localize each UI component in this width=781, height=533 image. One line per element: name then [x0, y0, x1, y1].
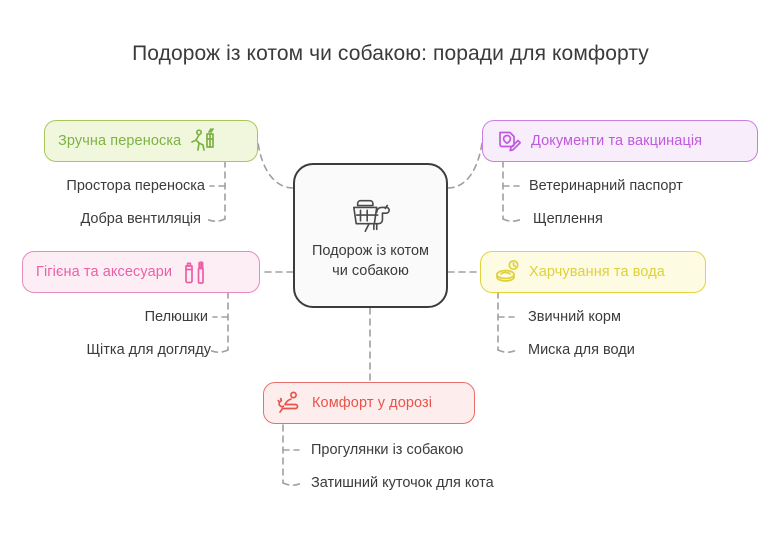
branch-label-food: Харчування та вода: [529, 264, 665, 280]
center-node[interactable]: Подорож із котом чи собакою: [293, 163, 448, 308]
sub-item-carrier-1: Простора переноска: [0, 177, 205, 195]
food-bowl-clock-icon: [494, 259, 520, 285]
twig-hygiene-2: [209, 350, 228, 352]
sub-item-comfort-1: Прогулянки із собакою: [311, 441, 463, 459]
pet-carrier-icon: [190, 128, 216, 154]
branch-badge-food[interactable]: Харчування та вода: [480, 251, 706, 293]
branch-badge-carrier[interactable]: Зручна переноска: [44, 120, 258, 162]
sub-item-documents-2: Щеплення: [533, 210, 603, 228]
branch-badge-hygiene[interactable]: Гігієна та аксесуари: [22, 251, 260, 293]
sub-item-food-2: Миска для води: [528, 341, 635, 359]
sub-item-hygiene-1: Пелюшки: [0, 308, 208, 326]
branch-label-carrier: Зручна переноска: [58, 133, 181, 149]
branch-badge-comfort[interactable]: Комфорт у дорозі: [263, 382, 475, 424]
toothpaste-brush-icon: [181, 259, 207, 285]
document-shield-pen-icon: [496, 128, 522, 154]
page-title: Подорож із котом чи собакою: поради для …: [0, 42, 781, 66]
connector-center-documents: [448, 143, 482, 188]
sub-item-documents-1: Ветеринарний паспорт: [529, 177, 683, 195]
branch-label-documents: Документи та вакцинація: [531, 133, 702, 149]
sub-item-hygiene-2: Щітка для догляду: [0, 341, 211, 359]
branch-label-comfort: Комфорт у дорозі: [312, 395, 432, 411]
car-seat-pet-icon: [277, 390, 303, 416]
twig-documents-2: [503, 219, 522, 221]
branch-label-hygiene: Гігієна та аксесуари: [36, 264, 172, 280]
twig-carrier-2: [206, 219, 225, 221]
sub-item-food-1: Звичний корм: [528, 308, 621, 326]
mindmap-canvas: Подорож із котом чи собакою: поради для …: [0, 0, 781, 533]
sub-item-carrier-2: Добра вентиляція: [0, 210, 201, 228]
pet-carrier-dog-icon: [348, 195, 394, 237]
twig-comfort-2: [283, 483, 302, 485]
branch-badge-documents[interactable]: Документи та вакцинація: [482, 120, 758, 162]
center-node-label: Подорож із котом чи собакою: [311, 241, 431, 281]
twig-food-2: [498, 350, 517, 352]
connector-center-carrier: [258, 143, 293, 188]
sub-item-comfort-2: Затишний куточок для кота: [311, 474, 494, 492]
